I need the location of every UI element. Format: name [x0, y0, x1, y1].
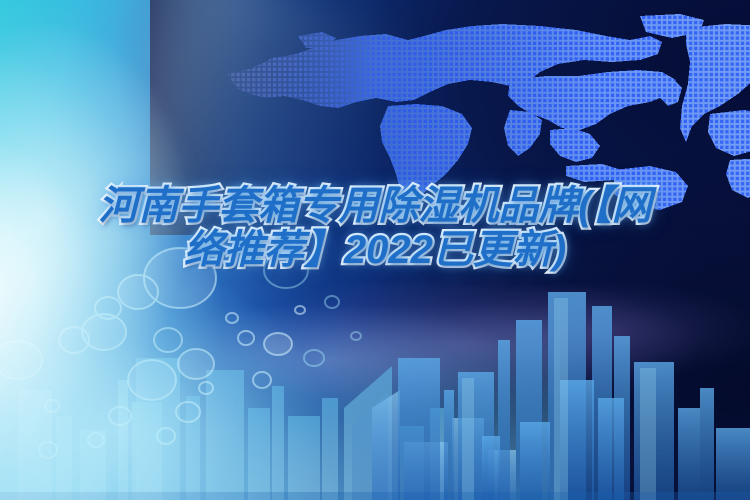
headline-text: 河南手套箱专用除湿机品牌(【网络推荐】2022已更新)	[0, 184, 750, 272]
headline-label: 河南手套箱专用除湿机品牌(【网络推荐】2022已更新)	[98, 184, 651, 272]
banner-image: 河南手套箱专用除湿机品牌(【网络推荐】2022已更新)	[0, 0, 750, 500]
